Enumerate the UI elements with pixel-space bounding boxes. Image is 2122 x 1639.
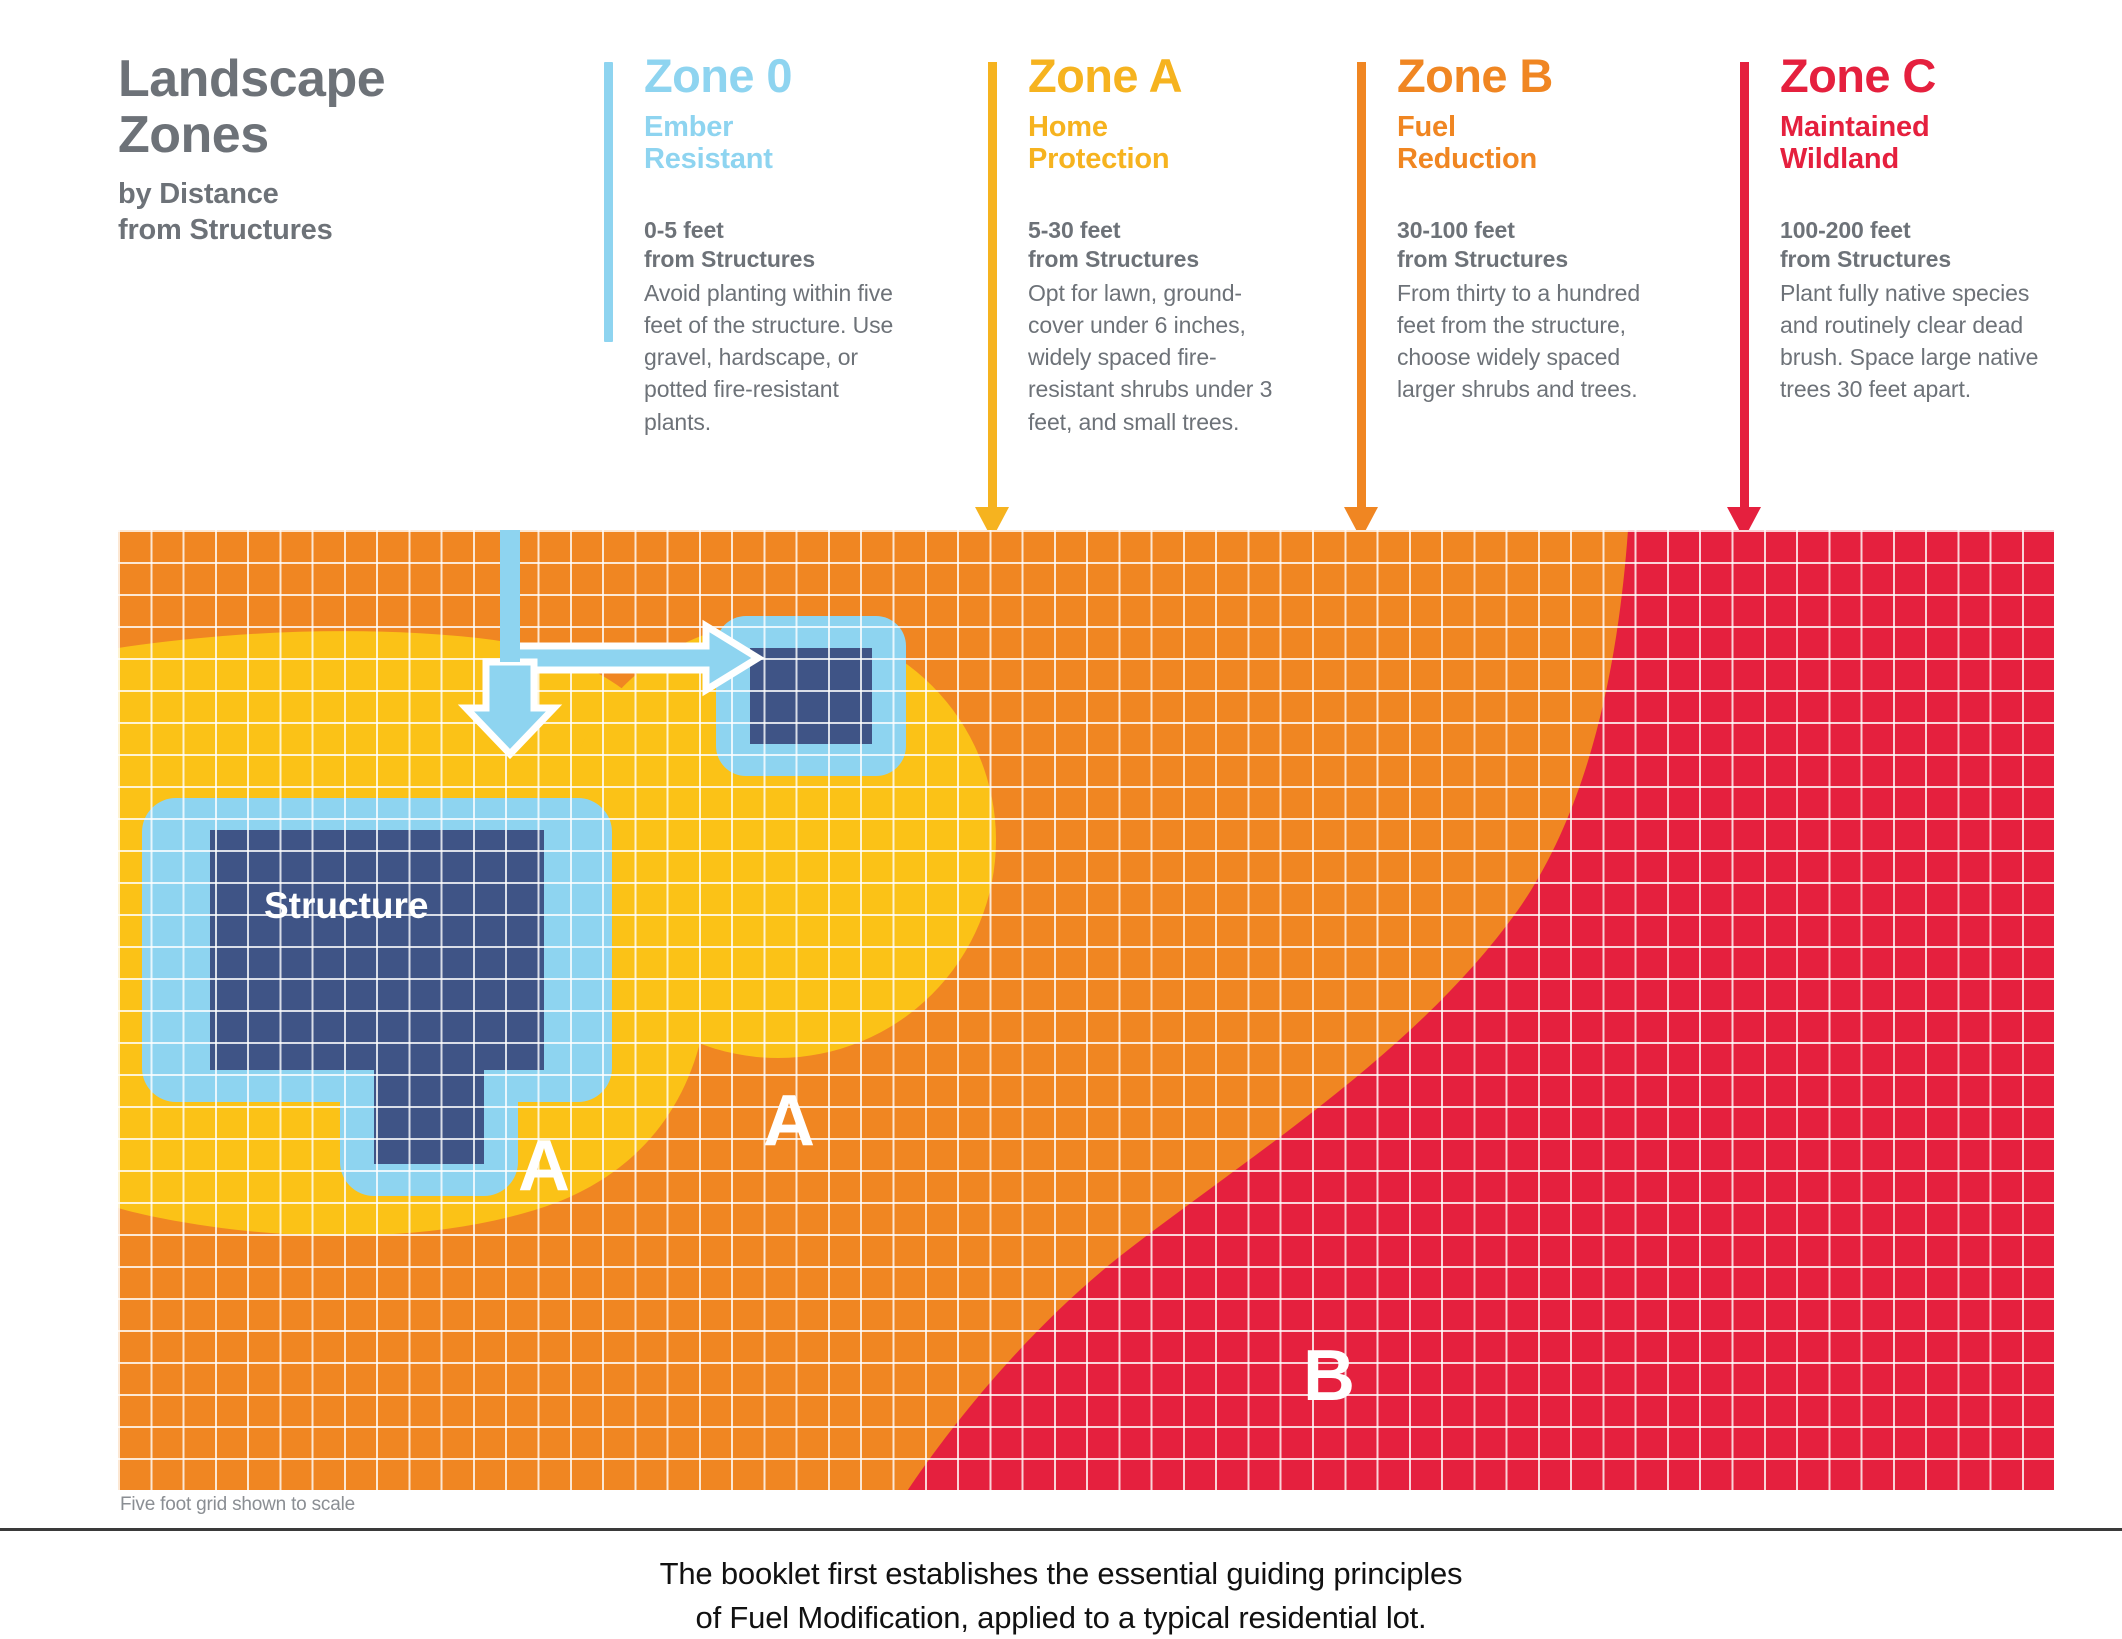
structure-label: Structure	[264, 885, 428, 927]
page-title: Landscape Zones by Distance from Structu…	[118, 52, 478, 248]
zone-0-rule	[604, 62, 613, 342]
footer-caption: The booklet first establishes the essent…	[0, 1552, 2122, 1639]
zone-a-name: Zone A	[1028, 52, 1288, 99]
zone-a-letter-secondary: A	[763, 1085, 815, 1157]
title-sub-1: by Distance	[118, 177, 478, 212]
zone-c-name: Zone C	[1780, 52, 2040, 99]
zone-b-tag-line-2: Reduction	[1397, 143, 1657, 175]
footer-line-1: The booklet first establishes the essent…	[0, 1552, 2122, 1596]
zone-0-distance-line-2: from Structures	[644, 245, 904, 274]
zone-0-name: Zone 0	[644, 52, 904, 99]
zone-b-letter: B	[1303, 1340, 1355, 1412]
title-line-1: Landscape	[118, 52, 478, 108]
zone-c-distance-line-1: 100-200 feet	[1780, 216, 2040, 245]
zone-b-name: Zone B	[1397, 52, 1657, 99]
zone-column-zone-b: Zone B Fuel Reduction 30-100 feet from S…	[1357, 52, 1657, 406]
zone-column-zone-a: Zone A Home Protection 5-30 feet from St…	[988, 52, 1288, 438]
landscape-map: A A B C Structure	[118, 530, 2054, 1490]
zone-a-letter-main: A	[518, 1130, 570, 1202]
zone-0-tag-line-1: Ember	[644, 111, 904, 143]
zone-a-tag-line-1: Home	[1028, 111, 1288, 143]
zone-a-tag-line-2: Protection	[1028, 143, 1288, 175]
zone-0-distance-line-1: 0-5 feet	[644, 216, 904, 245]
infographic-root: Landscape Zones by Distance from Structu…	[0, 0, 2122, 1639]
zone-b-tag-line-1: Fuel	[1397, 111, 1657, 143]
zone-0-tag-line-2: Resistant	[644, 143, 904, 175]
zone-b-distance-line-1: 30-100 feet	[1397, 216, 1657, 245]
zone-b-distance-line-2: from Structures	[1397, 245, 1657, 274]
zone-column-zone-0: Zone 0 Ember Resistant 0-5 feet from Str…	[604, 52, 904, 438]
zone-c-body: Plant fully native species and routinely…	[1780, 277, 2040, 406]
zone-c-tag-line-1: Maintained	[1780, 111, 2040, 143]
zone-0-connector-arrow-icon	[118, 530, 2054, 1490]
footer-divider	[0, 1528, 2122, 1531]
zone-column-zone-c: Zone C Maintained Wildland 100-200 feet …	[1740, 52, 2040, 406]
zone-a-body: Opt for lawn, ground-cover under 6 inche…	[1028, 277, 1288, 438]
zone-c-tag-line-2: Wildland	[1780, 143, 2040, 175]
zone-a-distance-line-2: from Structures	[1028, 245, 1288, 274]
zone-0-body: Avoid planting within five feet of the s…	[644, 277, 904, 438]
title-sub-2: from Structures	[118, 213, 478, 248]
zone-c-distance-line-2: from Structures	[1780, 245, 2040, 274]
scale-note: Five foot grid shown to scale	[120, 1494, 355, 1516]
zone-b-body: From thirty to a hundred feet from the s…	[1397, 277, 1657, 406]
zone-a-distance-line-1: 5-30 feet	[1028, 216, 1288, 245]
footer-line-2: of Fuel Modification, applied to a typic…	[0, 1596, 2122, 1639]
title-line-2: Zones	[118, 108, 478, 164]
header-area: Landscape Zones by Distance from Structu…	[0, 0, 2122, 520]
